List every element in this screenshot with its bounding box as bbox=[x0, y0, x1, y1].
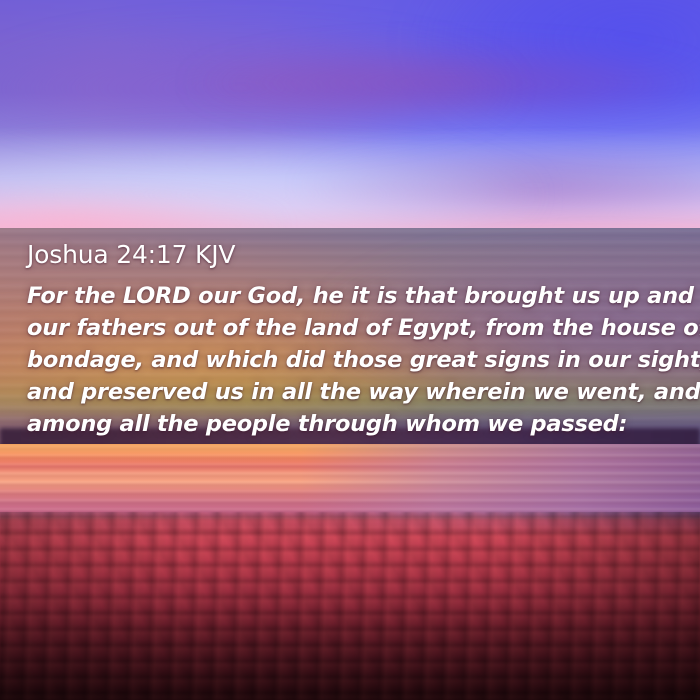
verse-text-block: Joshua 24:17 KJV For the LORD our God, h… bbox=[27, 240, 675, 440]
sky-tone-overlay bbox=[0, 0, 700, 232]
cloud-haze-pale-blue bbox=[0, 140, 540, 250]
cloud-streak-top-right bbox=[420, 0, 700, 140]
verse-line-4: and preserved us in all the way wherein … bbox=[27, 376, 675, 408]
sand-vignette bbox=[0, 512, 700, 700]
verse-reference: Joshua 24:17 KJV bbox=[27, 240, 675, 270]
cloud-streak-violet bbox=[300, 150, 700, 220]
sky-background bbox=[0, 0, 700, 232]
sand-foreground bbox=[0, 512, 700, 700]
sand-wet-wash bbox=[0, 512, 700, 700]
sand-footprint-texture bbox=[0, 512, 700, 700]
surf-band-right-tint bbox=[300, 444, 700, 544]
verse-line-1: For the LORD our God, he it is that brou… bbox=[27, 280, 675, 312]
cloud-streak-upper-left bbox=[0, 28, 520, 148]
surf-band bbox=[0, 444, 700, 544]
verse-line-2: our fathers out of the land of Egypt, fr… bbox=[27, 312, 675, 344]
verse-body: For the LORD our God, he it is that brou… bbox=[27, 280, 675, 440]
cloud-streak-magenta bbox=[190, 46, 700, 120]
verse-line-5: among all the people through whom we pas… bbox=[27, 408, 675, 440]
verse-line-3: bondage, and which did those great signs… bbox=[27, 344, 675, 376]
surf-motion-streaks bbox=[0, 444, 700, 544]
verse-card: Joshua 24:17 KJV For the LORD our God, h… bbox=[0, 0, 700, 700]
